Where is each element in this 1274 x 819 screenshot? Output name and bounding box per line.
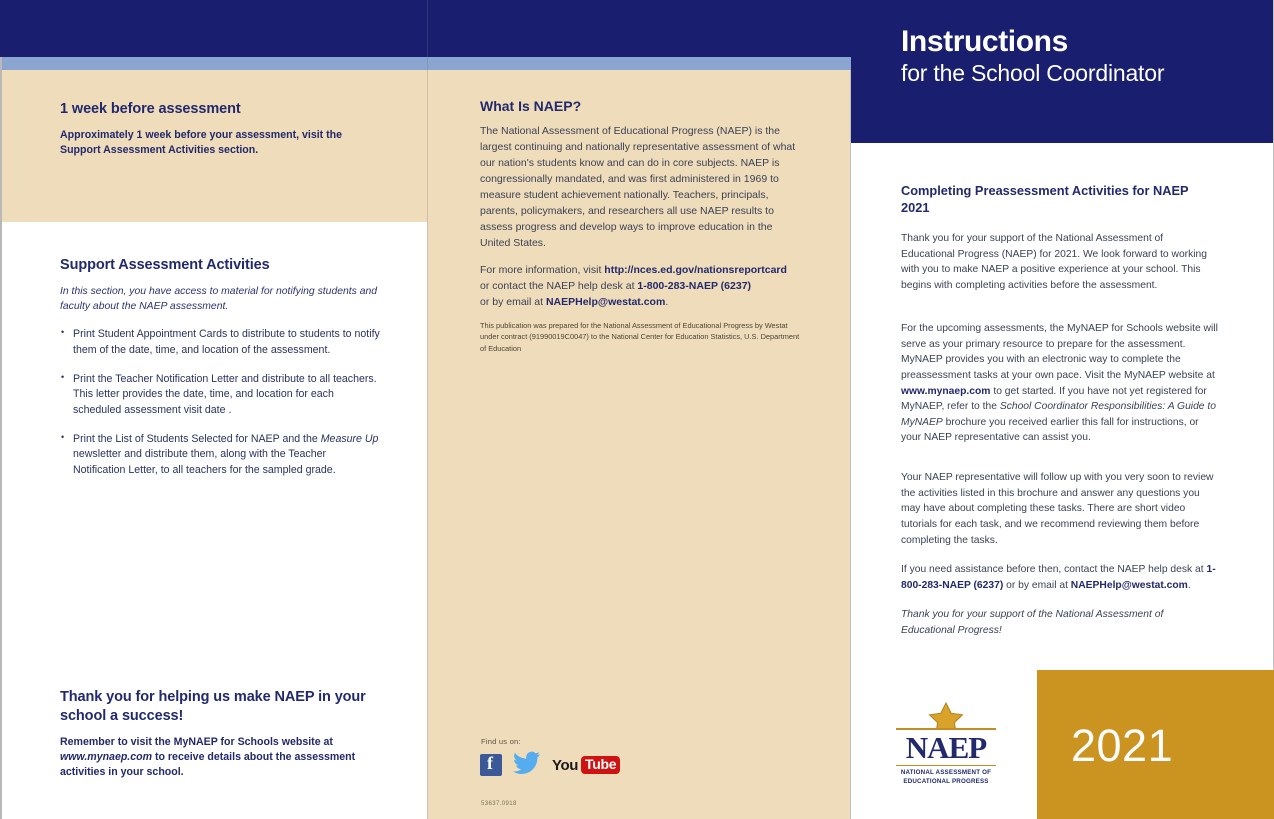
left-column: 1 week before assessment Approximately 1… [0, 0, 427, 819]
cover-closing-note-text: Thank you for your support of the Nation… [901, 607, 1219, 638]
help-desk-phone[interactable]: 1-800-283-NAEP (6237) [637, 280, 751, 292]
support-activities-intro: In this section, you have access to mate… [60, 284, 380, 314]
section-thank-you: Thank you for helping us make NAEP in yo… [60, 688, 380, 780]
list-item: Print the List of Students Selected for … [60, 432, 380, 479]
thank-you-body-pre: Remember to visit the MyNAEP for Schools… [60, 736, 333, 748]
thank-you-body: Remember to visit the MyNAEP for Schools… [60, 735, 380, 780]
cover-paragraph-4: If you need assistance before then, cont… [901, 562, 1219, 593]
cover-paragraph-4-text: If you need assistance before then, cont… [901, 562, 1219, 593]
support-activities-bullet-list: Print Student Appointment Cards to distr… [60, 327, 380, 478]
naep-star-icon [919, 702, 973, 728]
p4-mid: or by email at [1003, 580, 1071, 591]
contact-line-2: or contact the NAEP help desk at 1-800-2… [480, 279, 800, 295]
nces-url-link[interactable]: http://nces.ed.gov/nationsreportcard [604, 264, 787, 276]
what-is-naep-heading: What Is NAEP? [480, 98, 800, 114]
completing-activities-heading: Completing Preassessment Activities for … [901, 182, 1219, 216]
cover-paragraph-3-text: Your NAEP representative will follow up … [901, 470, 1219, 548]
mynaep-link[interactable]: www.mynaep.com [901, 386, 990, 397]
naep-wordmark: NAEP [896, 732, 996, 763]
bullet-text-post: newsletter and distribute them, along wi… [73, 448, 336, 476]
twitter-icon[interactable] [513, 751, 541, 779]
contact-line-1: For more information, visit http://nces.… [480, 263, 800, 279]
p2-pre: For the upcoming assessments, the MyNAEP… [901, 323, 1218, 381]
year-gold-block: 2021 [1037, 670, 1274, 819]
middle-column: What Is NAEP? The National Assessment of… [428, 0, 851, 819]
section-support-activities: Support Assessment Activities In this se… [60, 256, 380, 492]
find-us-on-label: Find us on: [481, 737, 620, 746]
section-what-is-naep: What Is NAEP? The National Assessment of… [480, 98, 800, 252]
list-item: Print Student Appointment Cards to distr… [60, 327, 380, 358]
p2-post: brochure you received earlier this fall … [901, 417, 1199, 444]
section-one-week-heading: 1 week before assessment [60, 100, 380, 119]
page-subtitle: for the School Coordinator [901, 60, 1164, 88]
document-code: 53637.0918 [481, 801, 620, 807]
contact-line-3-period: . [665, 296, 668, 308]
p4-pre: If you need assistance before then, cont… [901, 564, 1206, 575]
cover-paragraph-1: Thank you for your support of the Nation… [901, 231, 1219, 294]
contact-line-3-label: or by email at [480, 296, 546, 308]
left-spread: 1 week before assessment Approximately 1… [0, 0, 851, 819]
cover-paragraph-2-text: For the upcoming assessments, the MyNAEP… [901, 321, 1219, 446]
facebook-icon[interactable] [480, 754, 502, 776]
social-icon-row: You Tube [480, 751, 620, 779]
youtube-tube-badge: Tube [581, 756, 620, 774]
naep-logo-rule-bottom [896, 765, 996, 767]
what-is-naep-paragraph: The National Assessment of Educational P… [480, 124, 800, 252]
contact-line-2-label: or contact the NAEP help desk at [480, 280, 637, 292]
support-activities-heading: Support Assessment Activities [60, 256, 380, 275]
publication-fineprint-text: This publication was prepared for the Na… [480, 320, 802, 354]
cover-paragraph-3: Your NAEP representative will follow up … [901, 470, 1219, 548]
help-desk-email[interactable]: NAEPHelp@westat.com [546, 296, 665, 308]
contact-line-1-label: For more information, visit [480, 264, 604, 276]
bullet-text-pre: Print the Teacher Notification Letter an… [73, 373, 377, 416]
naep-logo: NAEP NATIONAL ASSESSMENT OF EDUCATIONAL … [896, 702, 996, 787]
naep-logo-subtext: NATIONAL ASSESSMENT OF EDUCATIONAL PROGR… [896, 769, 996, 787]
youtube-you-text: You [552, 757, 578, 774]
bullet-text-pre: Print the List of Students Selected for … [73, 433, 321, 445]
publication-fineprint: This publication was prepared for the Na… [480, 320, 802, 354]
cover-closing-note: Thank you for your support of the Nation… [901, 607, 1219, 638]
cover-title-block: Instructions for the School Coordinator [901, 25, 1164, 88]
section-one-week-body: Approximately 1 week before your assessm… [60, 128, 380, 158]
brochure-page: 1 week before assessment Approximately 1… [0, 0, 1274, 819]
contact-info-block: For more information, visit http://nces.… [480, 263, 800, 311]
mynaep-url-text: www.mynaep.com [60, 751, 152, 763]
contact-line-3: or by email at NAEPHelp@westat.com. [480, 295, 800, 311]
bullet-text-pre: Print Student Appointment Cards to distr… [73, 328, 380, 356]
social-media-block: Find us on: You Tube 53637.0918 [480, 737, 620, 807]
completing-activities-heading-block: Completing Preassessment Activities for … [901, 182, 1219, 228]
bullet-text-italic: Measure Up [321, 433, 379, 445]
list-item: Print the Teacher Notification Letter an… [60, 372, 380, 419]
youtube-icon[interactable]: You Tube [552, 756, 620, 774]
section-one-week: 1 week before assessment Approximately 1… [60, 100, 380, 158]
cover-paragraph-1-text: Thank you for your support of the Nation… [901, 231, 1219, 294]
thank-you-heading: Thank you for helping us make NAEP in yo… [60, 688, 380, 726]
help-desk-email-right[interactable]: NAEPHelp@westat.com [1071, 580, 1188, 591]
page-title: Instructions [901, 25, 1164, 58]
cover-paragraph-2: For the upcoming assessments, the MyNAEP… [901, 321, 1219, 446]
p4-post: . [1188, 580, 1191, 591]
year-label: 2021 [1071, 720, 1173, 772]
